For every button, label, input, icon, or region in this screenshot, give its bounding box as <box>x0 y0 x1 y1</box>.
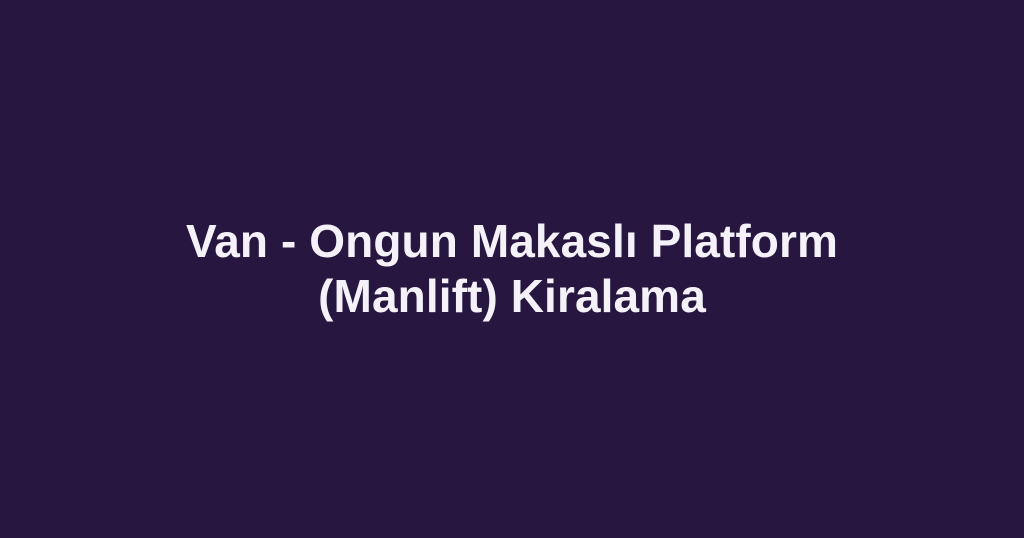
page-title: Van - Ongun Makaslı Platform (Manlift) K… <box>148 214 876 324</box>
title-block: Van - Ongun Makaslı Platform (Manlift) K… <box>132 214 892 324</box>
og-image-card: Van - Ongun Makaslı Platform (Manlift) K… <box>0 0 1024 538</box>
